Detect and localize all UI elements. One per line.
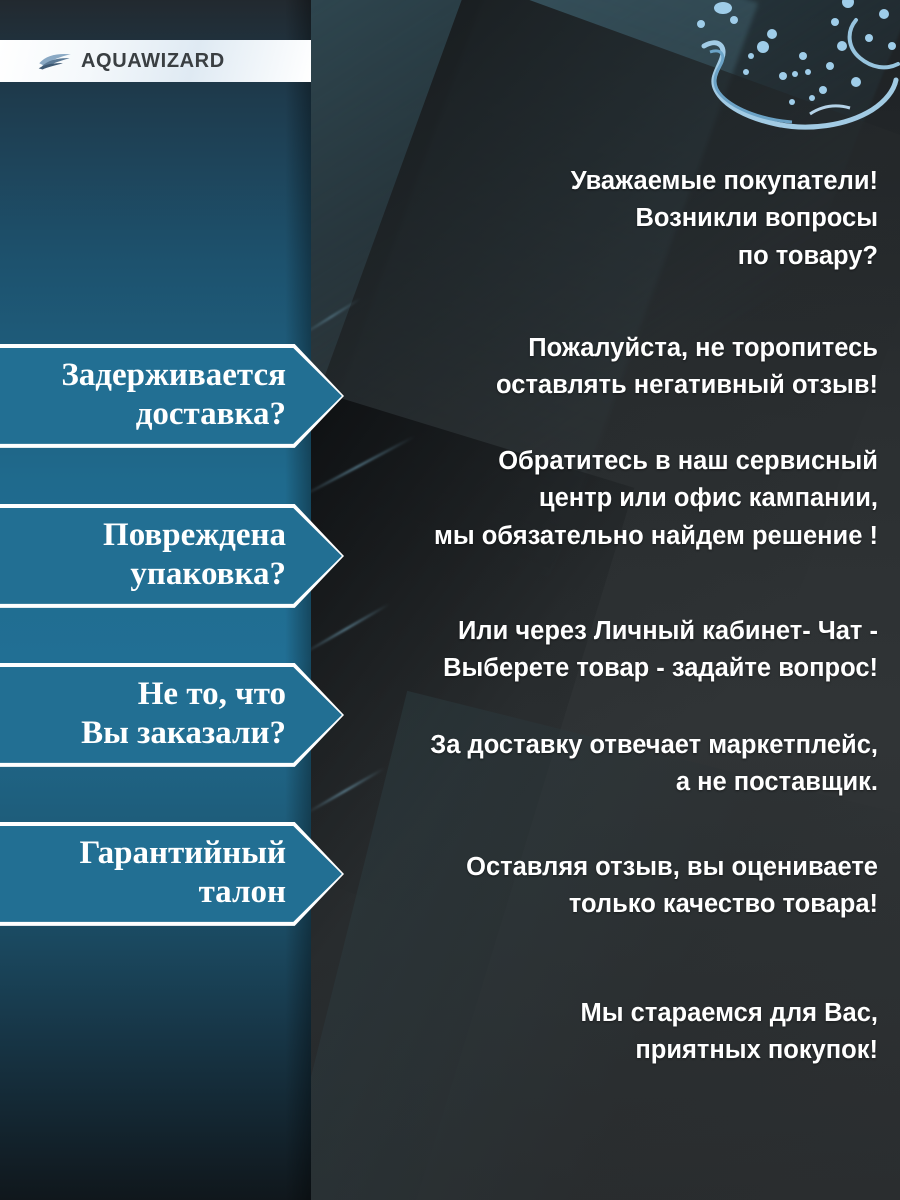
brand-name: AQUAWIZARD <box>81 50 225 73</box>
message-please-wait: Пожалуйста, не торопитесь оставлять нега… <box>318 330 878 405</box>
message-greeting: Уважаемые покупатели! Возникли вопросы п… <box>318 163 878 275</box>
badge-label: Гарантийный талон <box>0 826 344 922</box>
message-marketplace-note: За доставку отвечает маркетплейс, а не п… <box>318 727 878 802</box>
badge-wrong-item[interactable]: Не то, что Вы заказали? <box>0 663 344 767</box>
badge-delivery-delayed[interactable]: Задерживается доставка? <box>0 344 344 448</box>
badge-label: Задерживается доставка? <box>0 348 344 444</box>
message-closing: Мы стараемся для Вас, приятных покупок! <box>318 995 878 1070</box>
message-review-scope: Оставляя отзыв, вы оцениваете только кач… <box>318 849 878 924</box>
badge-warranty-card[interactable]: Гарантийный талон <box>0 822 344 926</box>
wave-icon <box>38 52 72 70</box>
promo-banner: AQUAWIZARD Задерживается доставка? Повре… <box>0 0 900 1200</box>
brand-logo-bar: AQUAWIZARD <box>0 40 311 82</box>
badge-label: Не то, что Вы заказали? <box>0 667 344 763</box>
badge-package-damaged[interactable]: Повреждена упаковка? <box>0 504 344 608</box>
badge-label: Повреждена упаковка? <box>0 508 344 604</box>
water-splash-icon <box>660 0 900 144</box>
message-contact-service: Обратитесь в наш сервисный центр или офи… <box>318 443 878 555</box>
message-chat-route: Или через Личный кабинет- Чат - Выберете… <box>318 613 878 688</box>
